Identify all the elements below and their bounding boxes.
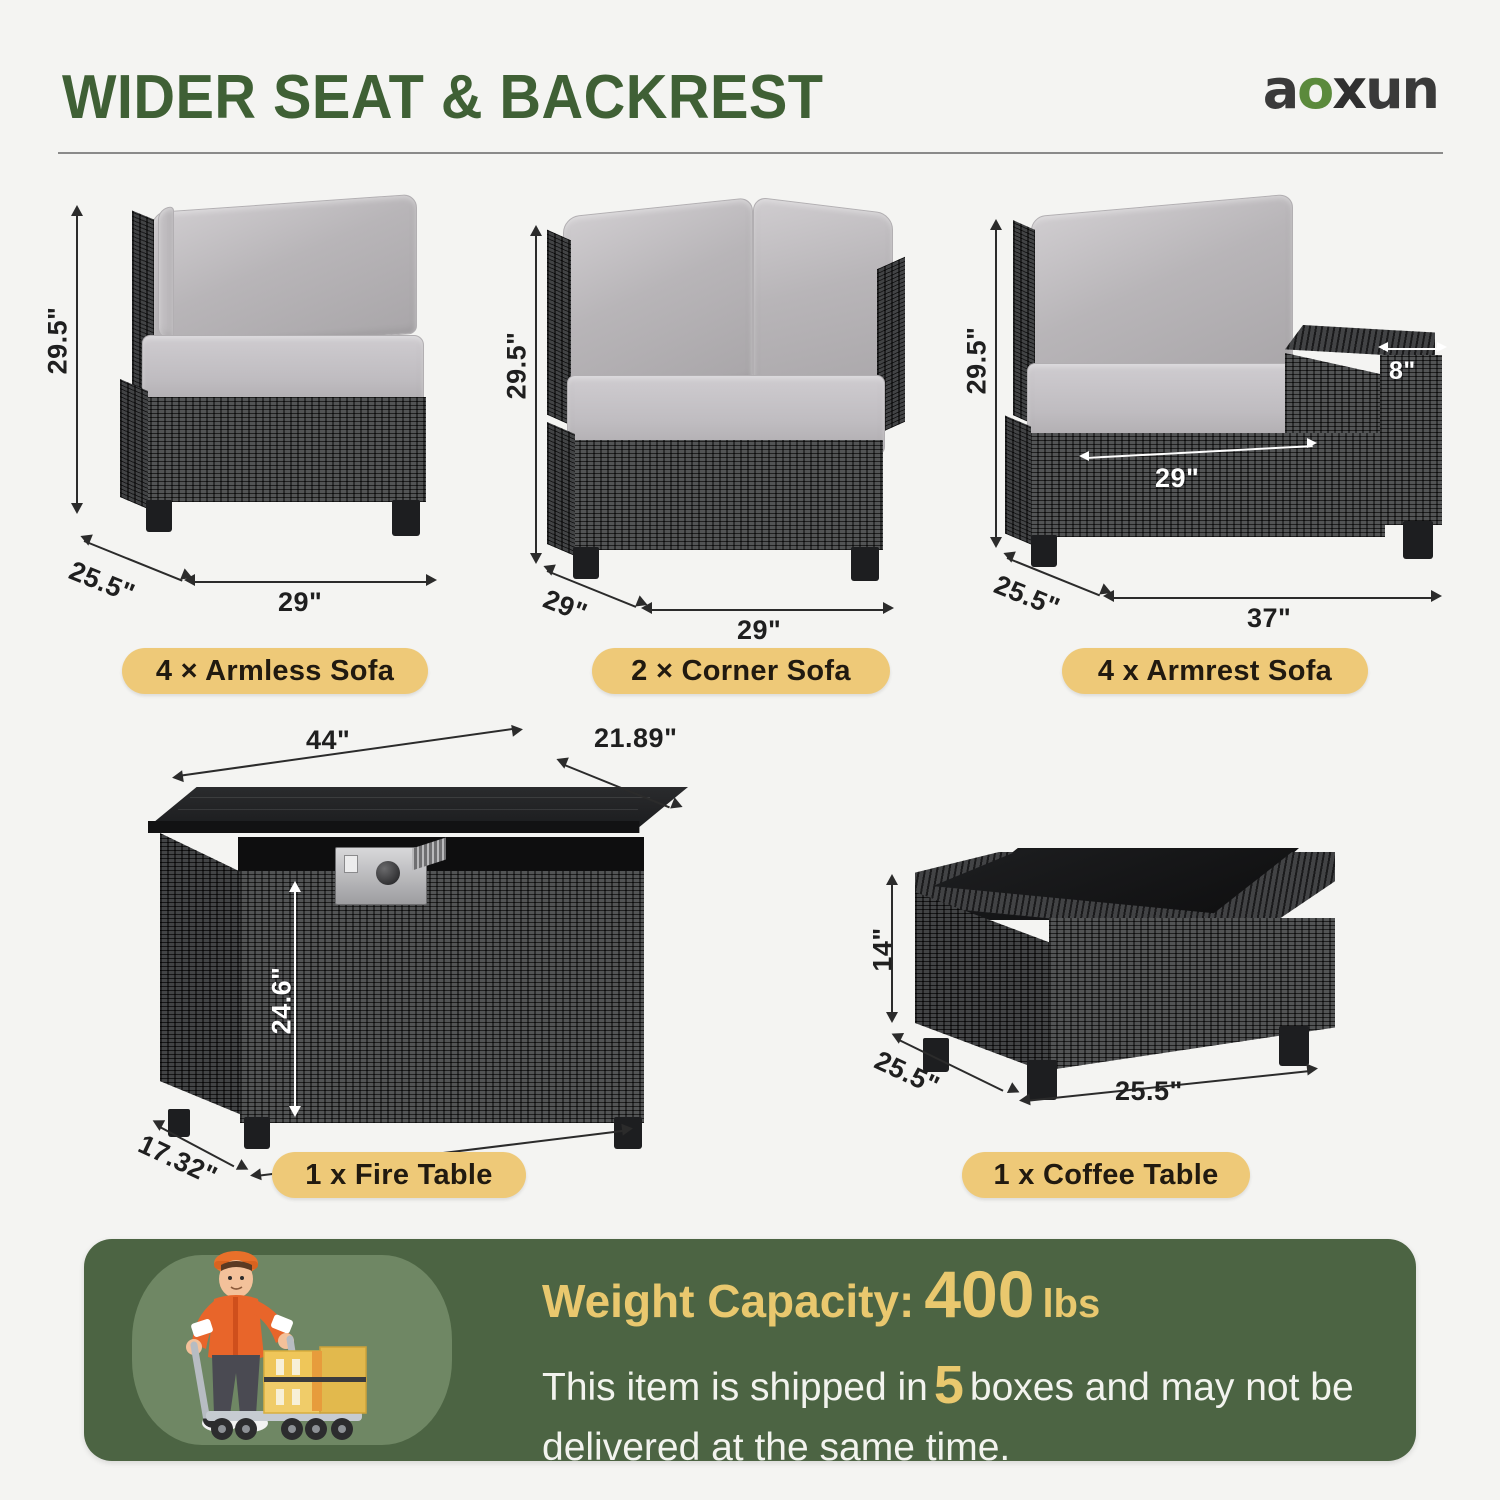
armrest-arrow-left bbox=[1378, 342, 1388, 352]
header-divider bbox=[58, 152, 1443, 154]
logo-letter-x: x bbox=[1332, 58, 1365, 121]
base-length-arrow-right bbox=[621, 1122, 633, 1135]
width-arrow-right bbox=[1306, 1062, 1318, 1075]
width-dim-line bbox=[647, 609, 887, 611]
back-cushion-left bbox=[563, 197, 753, 402]
height-dim-line bbox=[995, 227, 997, 539]
leg-front-right bbox=[392, 500, 420, 536]
logo-letter-o: o bbox=[1297, 58, 1332, 121]
back-cushion bbox=[152, 194, 417, 353]
leg-front-left bbox=[1027, 1060, 1057, 1100]
base-front bbox=[1023, 433, 1385, 537]
height-arrow-bottom bbox=[71, 503, 83, 514]
table-height-arrow-top bbox=[289, 881, 301, 892]
height-arrow-top bbox=[71, 205, 83, 216]
base-side bbox=[1005, 415, 1031, 544]
table-front-panel bbox=[240, 871, 644, 1123]
base-front bbox=[136, 397, 426, 502]
weight-capacity-units: lbs bbox=[1042, 1282, 1100, 1327]
height-arrow-bottom bbox=[530, 553, 542, 564]
corner-sofa-illustration: 29.5" 29" 29" bbox=[525, 185, 965, 605]
base-front bbox=[565, 440, 883, 550]
infographic-page: WIDER SEAT & BACKREST aoxun 29.5" 25.5" bbox=[0, 0, 1500, 1500]
top-length-arrow-left bbox=[171, 770, 184, 783]
pill-armrest-sofa[interactable]: 4 x Armrest Sofa bbox=[1062, 648, 1368, 694]
width-dim-label: 29" bbox=[737, 615, 781, 646]
fire-table-illustration: 44" 21.89" 24.6" 17.32" 29.21" bbox=[130, 725, 750, 1125]
width-dim-label: 37" bbox=[1247, 603, 1291, 634]
header: WIDER SEAT & BACKREST aoxun bbox=[0, 0, 1500, 160]
armrest-dim-line bbox=[1383, 348, 1441, 350]
leg-front-right bbox=[1279, 1026, 1309, 1066]
shipping-note-pre: This item is shipped in bbox=[542, 1366, 928, 1409]
armrest-dim-label: 8" bbox=[1389, 357, 1416, 386]
leg-front-left bbox=[573, 547, 599, 579]
leg-front-left bbox=[244, 1117, 270, 1149]
brand-logo: aoxun bbox=[1263, 58, 1438, 121]
top-length-arrow-right bbox=[511, 723, 524, 736]
shipping-box-count: 5 bbox=[928, 1355, 970, 1415]
back-cushion-side bbox=[158, 206, 174, 339]
height-dim-line bbox=[535, 233, 537, 555]
depth-dim-label: 25.5" bbox=[65, 555, 140, 609]
weight-capacity-value: 400 bbox=[924, 1265, 1034, 1324]
delivery-man-icon bbox=[164, 1247, 414, 1452]
weight-capacity-heading: Weight Capacity: 400 lbs bbox=[542, 1265, 1100, 1328]
height-arrow-top bbox=[530, 225, 542, 236]
base-length-arrow-left bbox=[249, 1168, 261, 1181]
width-arrow-left bbox=[1103, 590, 1114, 602]
pill-fire-table[interactable]: 1 x Fire Table bbox=[272, 1152, 526, 1198]
top-depth-dim-label: 21.89" bbox=[594, 723, 677, 754]
table-height-dim-label: 24.6" bbox=[266, 967, 297, 1035]
height-dim-line bbox=[76, 213, 78, 505]
width-arrow-left bbox=[1018, 1093, 1030, 1106]
seat-width-arrow-left bbox=[1079, 451, 1089, 461]
weight-capacity-label: Weight Capacity: bbox=[542, 1274, 914, 1328]
height-dim-label: 14" bbox=[868, 927, 899, 971]
seat-width-dim-label: 29" bbox=[1155, 463, 1199, 494]
base-side bbox=[547, 422, 575, 556]
armless-sofa-illustration: 29.5" 25.5" 29" bbox=[60, 185, 480, 605]
leg-front-left bbox=[1031, 535, 1057, 567]
table-top-slat-1 bbox=[190, 797, 650, 798]
shipping-note: This item is shipped in5boxes and may no… bbox=[542, 1349, 1382, 1461]
width-arrow-right bbox=[426, 574, 437, 586]
shipping-banner: Weight Capacity: 400 lbs This item is sh… bbox=[84, 1239, 1416, 1461]
logo-letter-a: a bbox=[1263, 58, 1297, 121]
seat-width-arrow-right bbox=[1307, 438, 1317, 448]
table-side-panel bbox=[160, 833, 242, 1115]
pill-corner-sofa[interactable]: 2 × Corner Sofa bbox=[592, 648, 890, 694]
coffee-table-illustration: 14" 25.5" 25.5" bbox=[875, 830, 1415, 1130]
armrest-sofa-illustration: 29.5" 8" 29" 25.5" 37" bbox=[985, 185, 1455, 605]
top-depth-arrow-right bbox=[670, 797, 685, 812]
height-arrow-bottom bbox=[886, 1012, 898, 1023]
height-dim-label: 29.5" bbox=[961, 327, 992, 395]
width-dim-line bbox=[190, 581, 430, 583]
width-dim-label: 25.5" bbox=[1115, 1076, 1183, 1107]
base-depth-dim-label: 17.32" bbox=[133, 1129, 222, 1192]
width-arrow-left bbox=[641, 602, 652, 614]
width-arrow-left bbox=[184, 574, 195, 586]
back-cushion-right bbox=[753, 196, 893, 403]
logo-letter-n: n bbox=[1402, 58, 1438, 121]
control-switch[interactable] bbox=[344, 855, 358, 873]
width-arrow-right bbox=[883, 602, 894, 614]
height-dim-label: 29.5" bbox=[42, 307, 73, 375]
pill-armless-sofa[interactable]: 4 × Armless Sofa bbox=[122, 648, 428, 694]
top-length-dim-label: 44" bbox=[306, 725, 350, 756]
width-dim-line bbox=[1109, 597, 1435, 599]
table-height-arrow-bottom bbox=[289, 1106, 301, 1117]
page-title: WIDER SEAT & BACKREST bbox=[62, 62, 823, 133]
logo-letter-u: u bbox=[1365, 58, 1401, 121]
height-dim-label: 29.5" bbox=[501, 332, 532, 400]
leg-front-right bbox=[851, 547, 879, 581]
table-top-slat-2 bbox=[178, 809, 638, 810]
depth-dim-label: 29" bbox=[539, 584, 592, 629]
height-arrow-top bbox=[886, 874, 898, 885]
height-arrow-top bbox=[990, 219, 1002, 230]
leg-front-right bbox=[1403, 521, 1433, 559]
pill-coffee-table[interactable]: 1 x Coffee Table bbox=[962, 1152, 1250, 1198]
leg-front-left bbox=[146, 500, 172, 532]
height-arrow-bottom bbox=[990, 537, 1002, 548]
width-arrow-right bbox=[1431, 590, 1442, 602]
base-side bbox=[120, 379, 148, 509]
armrest-arrow-right bbox=[1437, 342, 1447, 352]
control-knob[interactable] bbox=[376, 861, 400, 885]
width-dim-label: 29" bbox=[278, 587, 322, 618]
